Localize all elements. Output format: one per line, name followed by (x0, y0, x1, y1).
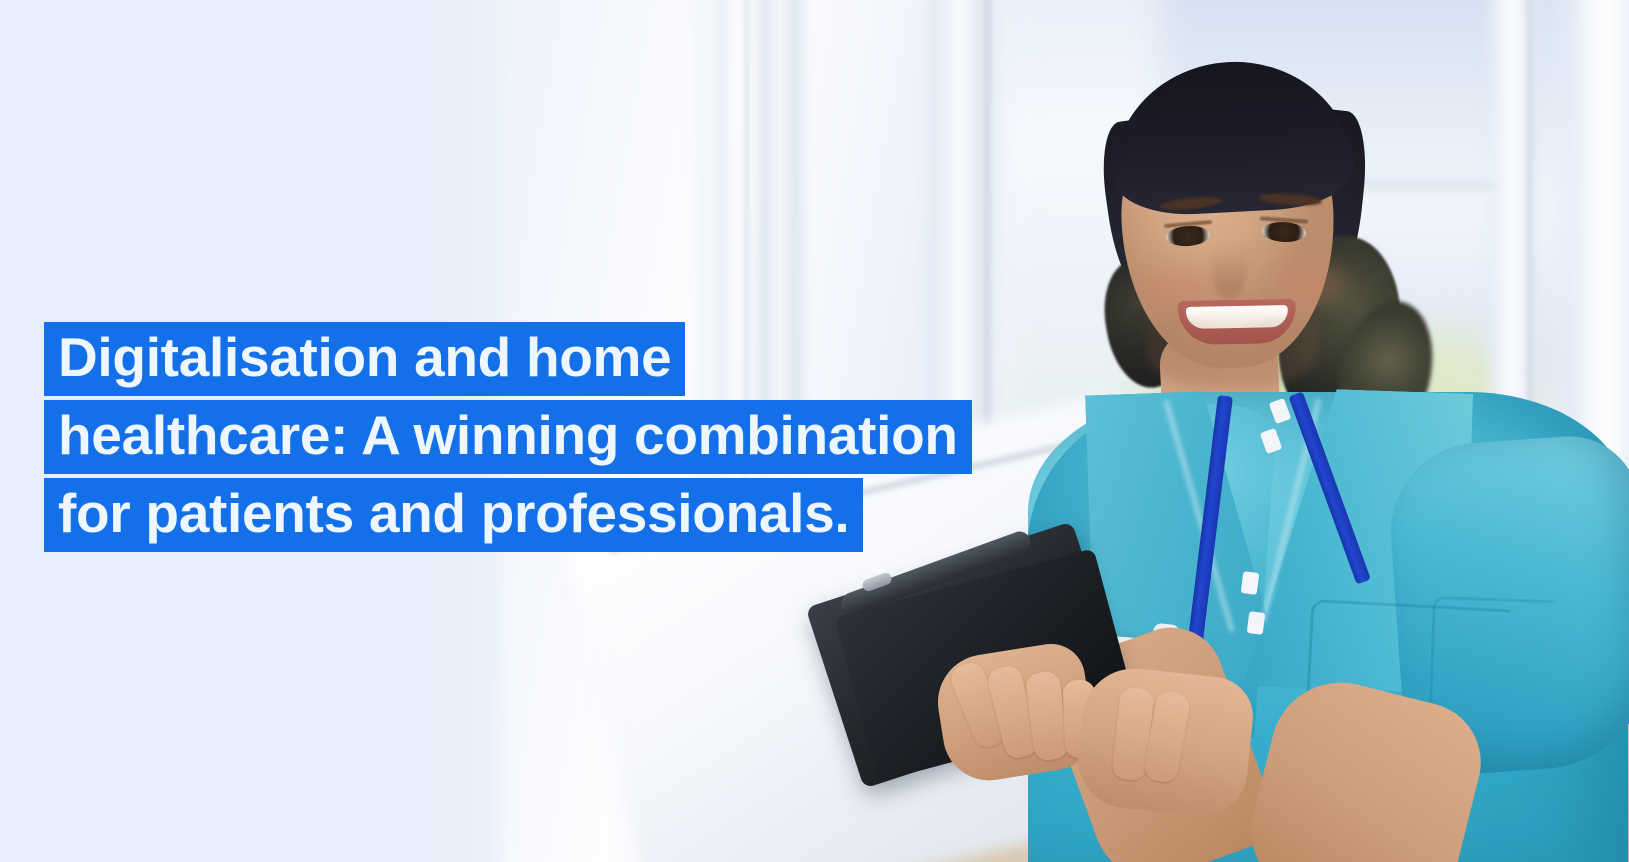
hero-banner: Digitalisation and home healthcare: A wi… (0, 0, 1629, 862)
nose (1212, 244, 1246, 300)
headline-line-1: Digitalisation and home (44, 322, 685, 396)
jawline-shadow (1148, 320, 1318, 390)
headline-line-2: healthcare: A winning combination (44, 400, 972, 474)
headline-line-3: for patients and professionals. (44, 478, 863, 552)
hair-top (1108, 56, 1356, 218)
headline: Digitalisation and home healthcare: A wi… (44, 322, 972, 552)
lanyard-segment (1247, 611, 1266, 635)
lanyard-segment (1241, 571, 1260, 595)
